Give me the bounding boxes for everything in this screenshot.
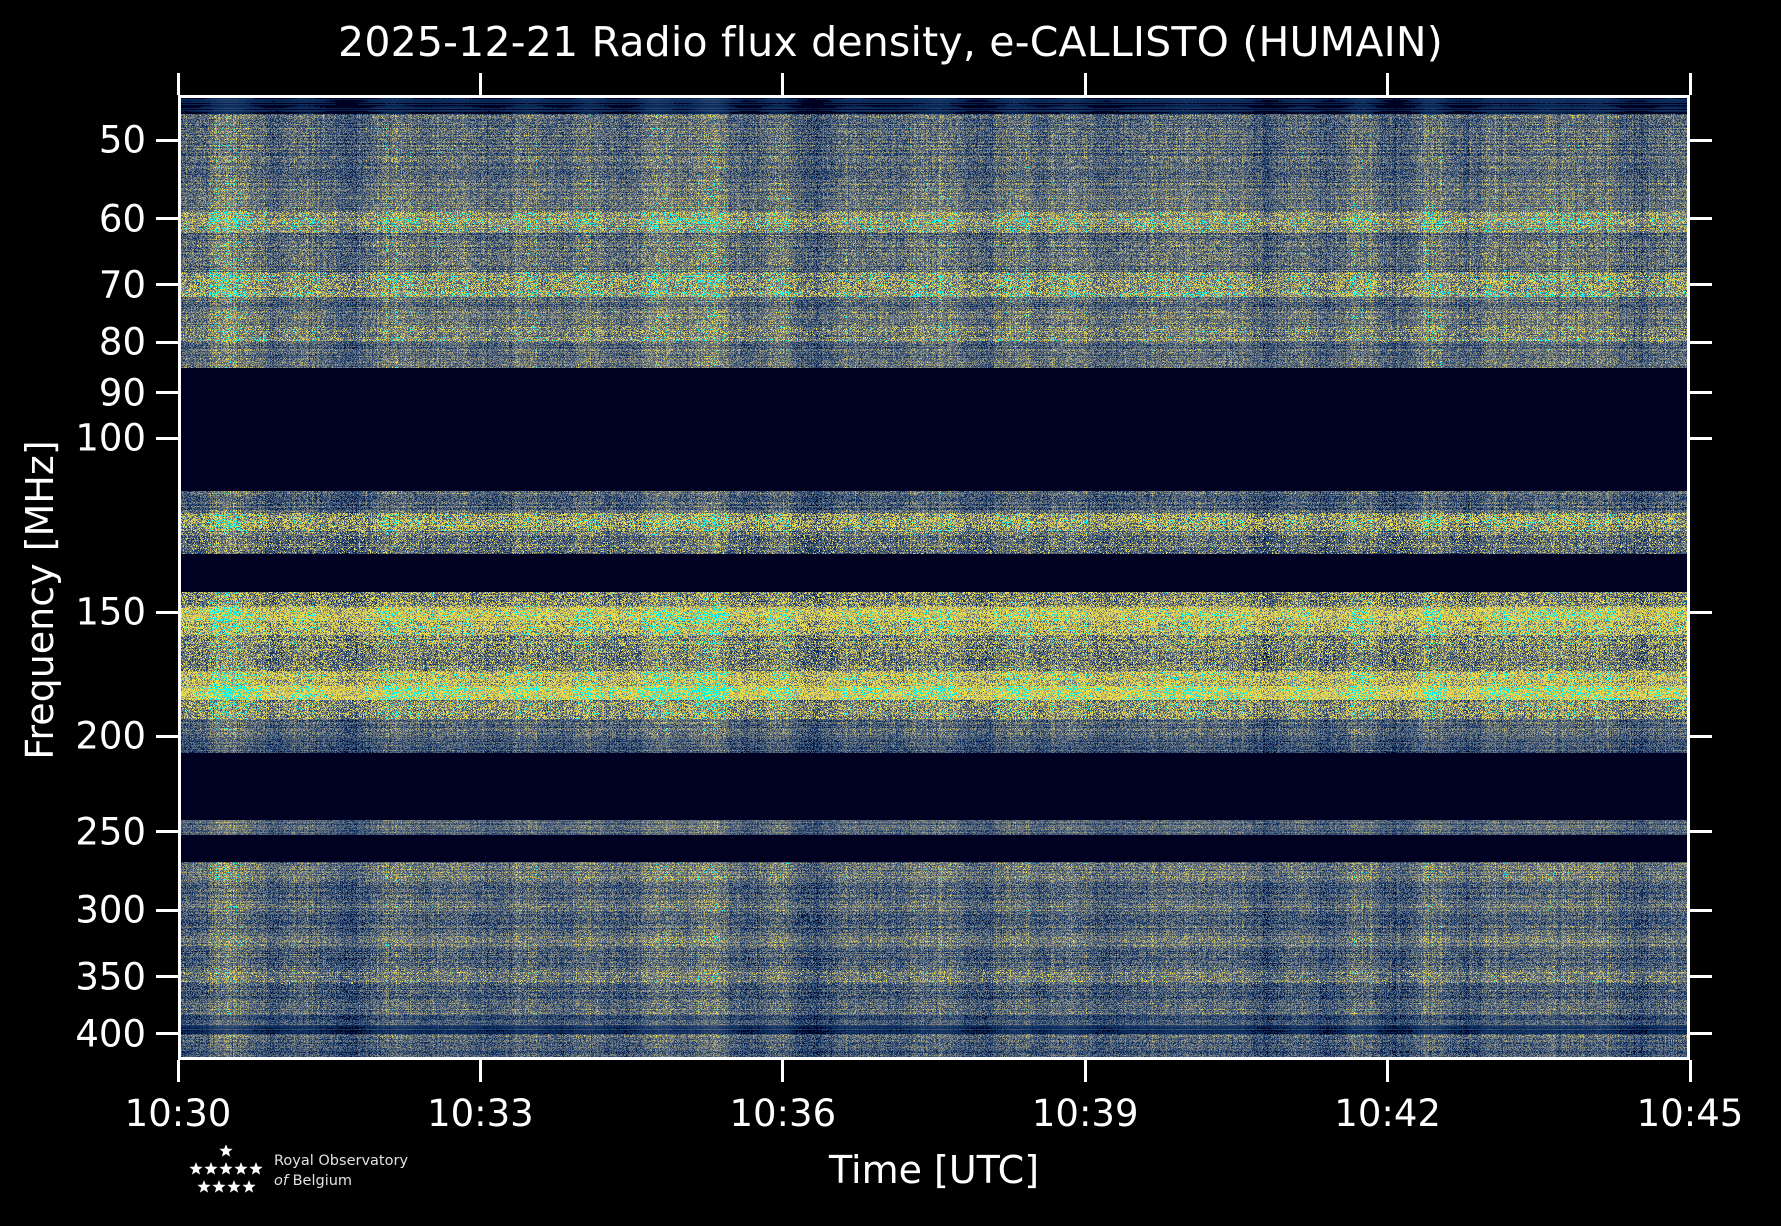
y-tick-mark	[156, 391, 178, 394]
spectrogram-canvas	[178, 95, 1690, 1060]
x-tick-label: 10:42	[1334, 1092, 1441, 1135]
y-tick-mark	[156, 975, 178, 978]
y-tick-mark	[156, 341, 178, 344]
spectrogram-plot-area[interactable]	[178, 95, 1690, 1060]
x-tick-label: 10:36	[729, 1092, 836, 1135]
y-tick-mark-right	[1690, 217, 1712, 220]
y-tick-mark	[156, 139, 178, 142]
x-tick-mark	[1084, 1060, 1087, 1082]
x-tick-label: 10:45	[1637, 1092, 1744, 1135]
y-tick-label: 400	[0, 1012, 146, 1055]
x-tick-mark-top	[1386, 73, 1389, 95]
x-tick-mark	[1689, 1060, 1692, 1082]
x-tick-label: 10:33	[427, 1092, 534, 1135]
x-tick-mark	[177, 1060, 180, 1082]
y-tick-mark	[156, 283, 178, 286]
figure-root: 2025-12-21 Radio flux density, e-CALLIST…	[0, 0, 1781, 1226]
y-tick-mark	[156, 1032, 178, 1035]
x-tick-mark	[479, 1060, 482, 1082]
y-tick-mark-right	[1690, 1032, 1712, 1035]
logo-of: of	[274, 1173, 288, 1189]
y-tick-mark-right	[1690, 735, 1712, 738]
logo-line-2: of Belgium	[274, 1171, 408, 1191]
page-title: 2025-12-21 Radio flux density, e-CALLIST…	[0, 18, 1781, 66]
y-tick-mark-right	[1690, 437, 1712, 440]
y-tick-mark-right	[1690, 391, 1712, 394]
x-tick-mark-top	[177, 73, 180, 95]
x-tick-mark-top	[1689, 73, 1692, 95]
y-tick-mark	[156, 909, 178, 912]
y-tick-mark	[156, 217, 178, 220]
x-tick-mark	[781, 1060, 784, 1082]
x-tick-mark-top	[1084, 73, 1087, 95]
logo-text: Royal Observatory of Belgium	[274, 1151, 408, 1191]
x-tick-mark-top	[479, 73, 482, 95]
y-tick-mark-right	[1690, 975, 1712, 978]
y-tick-mark	[156, 735, 178, 738]
eu-stars-icon	[178, 1145, 274, 1203]
y-tick-label: 300	[0, 889, 146, 932]
y-tick-label: 50	[0, 119, 146, 162]
y-tick-mark-right	[1690, 830, 1712, 833]
y-tick-mark-right	[1690, 139, 1712, 142]
logo-line-1: Royal Observatory	[274, 1151, 408, 1171]
x-tick-mark-top	[781, 73, 784, 95]
y-tick-mark-right	[1690, 909, 1712, 912]
y-tick-label: 70	[0, 263, 146, 306]
x-tick-label: 10:30	[125, 1092, 232, 1135]
y-tick-label: 250	[0, 810, 146, 853]
y-tick-label: 60	[0, 197, 146, 240]
royal-observatory-logo: Royal Observatory of Belgium	[178, 1145, 418, 1207]
y-tick-mark-right	[1690, 611, 1712, 614]
y-tick-mark	[156, 830, 178, 833]
y-tick-mark	[156, 437, 178, 440]
logo-belgium: Belgium	[288, 1173, 352, 1189]
x-tick-label: 10:39	[1032, 1092, 1139, 1135]
y-tick-mark-right	[1690, 341, 1712, 344]
y-tick-mark	[156, 611, 178, 614]
y-axis-label: Frequency [MHz]	[18, 390, 62, 810]
x-tick-mark	[1386, 1060, 1389, 1082]
y-tick-label: 80	[0, 321, 146, 364]
y-tick-mark-right	[1690, 283, 1712, 286]
y-tick-label: 350	[0, 955, 146, 998]
